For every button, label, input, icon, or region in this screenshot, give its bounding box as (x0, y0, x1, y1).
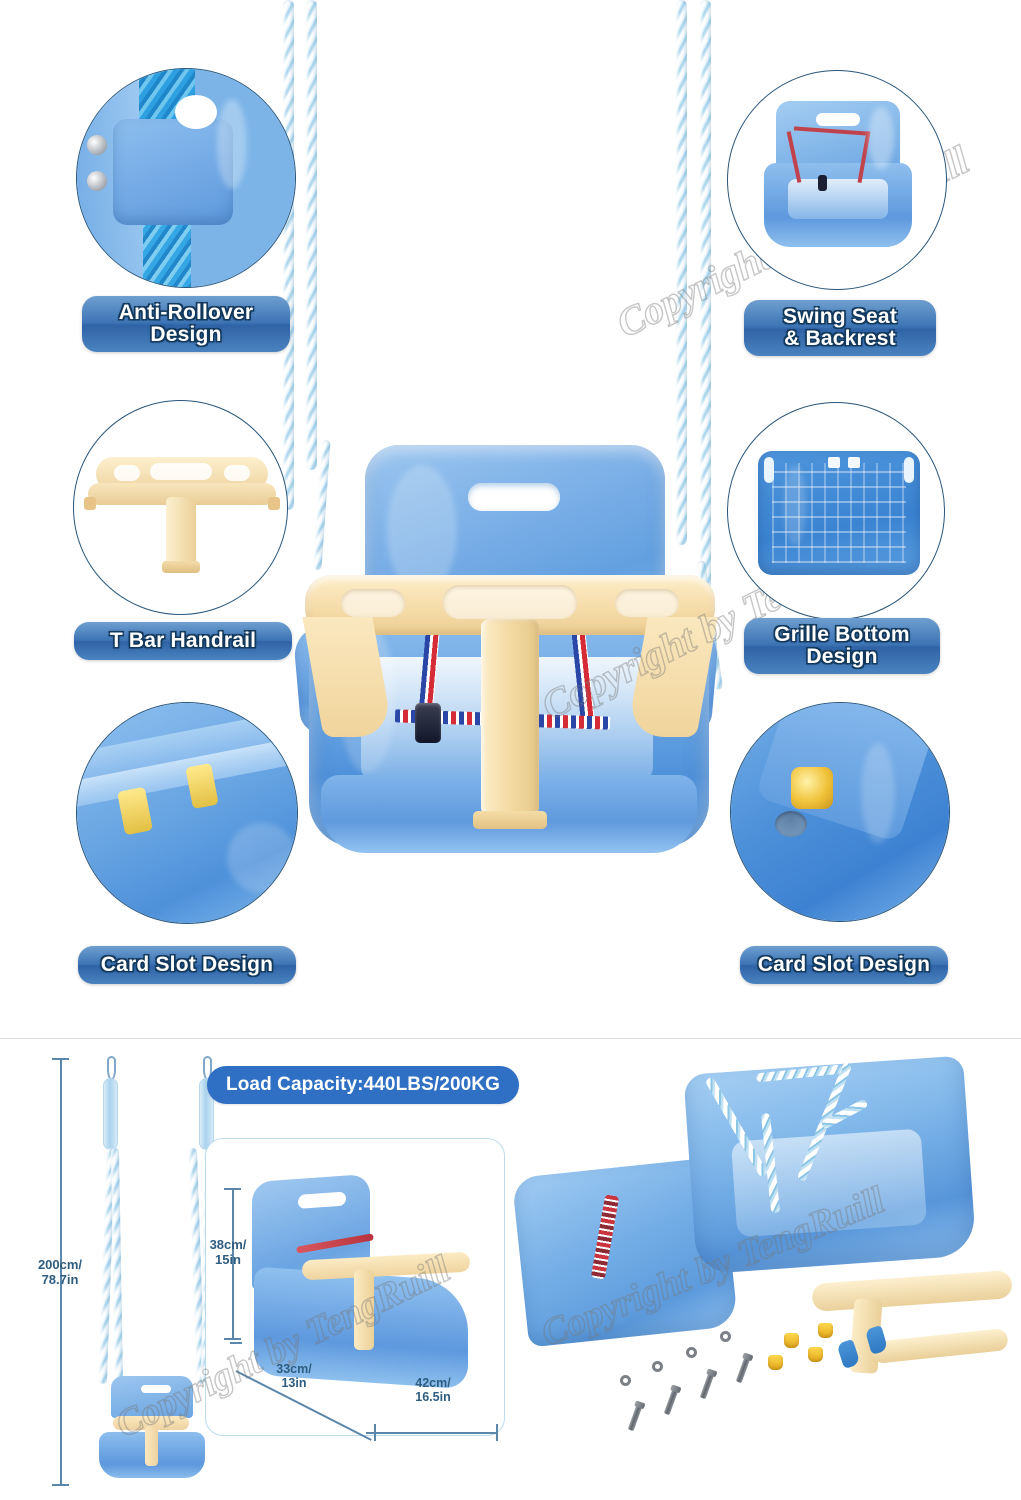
part-screw (700, 1373, 715, 1399)
product-infographic: Copyright by TengRuill Copyright by Teng… (0, 0, 1021, 1500)
part-lock-nut (720, 1331, 731, 1342)
feature-label-t-bar: T Bar Handrail (74, 622, 292, 660)
part-t-bar-arm (871, 1328, 1009, 1364)
dim-cap-bottom (52, 1484, 69, 1486)
feature-label-line1: Card Slot Design (758, 954, 930, 976)
rope-left-2 (306, 0, 317, 470)
part-lock-nut (686, 1347, 697, 1358)
dim-cap-top (52, 1058, 69, 1060)
dim-label-seat-height: 38cm/ 15in (192, 1238, 264, 1267)
mini-backrest (111, 1376, 193, 1418)
dim-label-hang-height: 200cm/ 78.7in (18, 1258, 102, 1287)
feature-label-line2: Design (150, 324, 221, 346)
part-lock-nut (652, 1361, 663, 1372)
feature-image-grille-bottom (727, 402, 945, 620)
part-yellow-knob (768, 1355, 783, 1370)
dim-cap-42-left (374, 1424, 376, 1441)
rivet-upper-icon (87, 135, 107, 155)
swing-rope-left-2 (111, 1148, 123, 1382)
feature-label-line1: T Bar Handrail (110, 630, 256, 652)
feature-image-swing-seat (727, 70, 947, 290)
part-t-bar-top (811, 1270, 1012, 1312)
part-seat-cavity (731, 1128, 927, 1237)
t-bar-leg-left (302, 617, 393, 737)
feature-label-line1: Swing Seat (783, 306, 897, 328)
yellow-knob-icon (791, 767, 833, 809)
dim-line-seat-width (374, 1432, 498, 1434)
feature-label-anti-rollover: Anti-Rollover Design (82, 296, 290, 352)
dim-cap-33-start (230, 1342, 242, 1344)
feature-label-card-slot-left: Card Slot Design (78, 946, 296, 984)
part-yellow-knob (818, 1323, 833, 1338)
mounting-hole-icon (775, 811, 807, 837)
part-yellow-knob (808, 1347, 823, 1362)
t-bar-foot (473, 811, 547, 829)
part-screw (736, 1357, 751, 1383)
spec-t-bar-leg (354, 1270, 374, 1350)
t-bar-slot-left (341, 589, 405, 617)
part-yellow-knob (784, 1333, 799, 1348)
part-backrest-slot (545, 1139, 581, 1162)
feature-label-swing-seat: Swing Seat & Backrest (744, 300, 936, 356)
feature-label-grille-bottom: Grille Bottom Design (744, 618, 940, 674)
part-screw (664, 1389, 679, 1415)
specs-panel: 200cm/ 78.7in Load Capacity:440LBS/200KG… (0, 1040, 1021, 1500)
t-bar-leg-right (626, 617, 717, 737)
feature-image-card-slot-right (730, 702, 950, 922)
t-bar-handrail-assembly (305, 575, 715, 855)
features-panel: Copyright by TengRuill Copyright by Teng… (0, 0, 1021, 1038)
exploded-parts-view (520, 1055, 1020, 1485)
feature-label-card-slot-right: Card Slot Design (740, 946, 948, 984)
mini-t-bar-stem (145, 1426, 158, 1466)
main-product-image (275, 445, 735, 895)
dim-cap-38-bottom (224, 1338, 241, 1340)
dim-cap-42-right (496, 1424, 498, 1441)
feature-image-t-bar (73, 400, 288, 615)
feature-image-card-slot-left (76, 702, 298, 924)
feature-label-line1: Card Slot Design (101, 954, 273, 976)
spec-backrest-handle (298, 1192, 346, 1209)
t-bar-slot-right (615, 589, 679, 617)
rivet-lower-icon (87, 171, 107, 191)
part-lock-nut (620, 1375, 631, 1386)
feature-label-line1: Grille Bottom (774, 624, 910, 646)
mini-backrest-handle (141, 1385, 171, 1393)
panel-divider (0, 1038, 1021, 1039)
dim-cap-38-top (224, 1188, 241, 1190)
dim-label-seat-depth: 33cm/ 13in (258, 1362, 330, 1390)
carabiner-left-icon (107, 1056, 116, 1080)
feature-image-anti-rollover (76, 68, 296, 288)
t-bar-stem (481, 619, 539, 817)
backrest-handle-slot (468, 483, 560, 510)
part-screw (628, 1405, 643, 1431)
feature-label-line2: Design (806, 646, 877, 668)
load-capacity-badge: Load Capacity:440LBS/200KG (207, 1066, 519, 1104)
feature-label-line2: & Backrest (784, 328, 896, 350)
t-bar-center-slot (443, 585, 577, 619)
mini-swing-seat (95, 1376, 207, 1478)
hanging-loop-left (103, 1078, 118, 1150)
feature-label-line1: Anti-Rollover (119, 302, 253, 324)
dim-label-seat-width: 42cm/ 16.5in (390, 1376, 476, 1404)
